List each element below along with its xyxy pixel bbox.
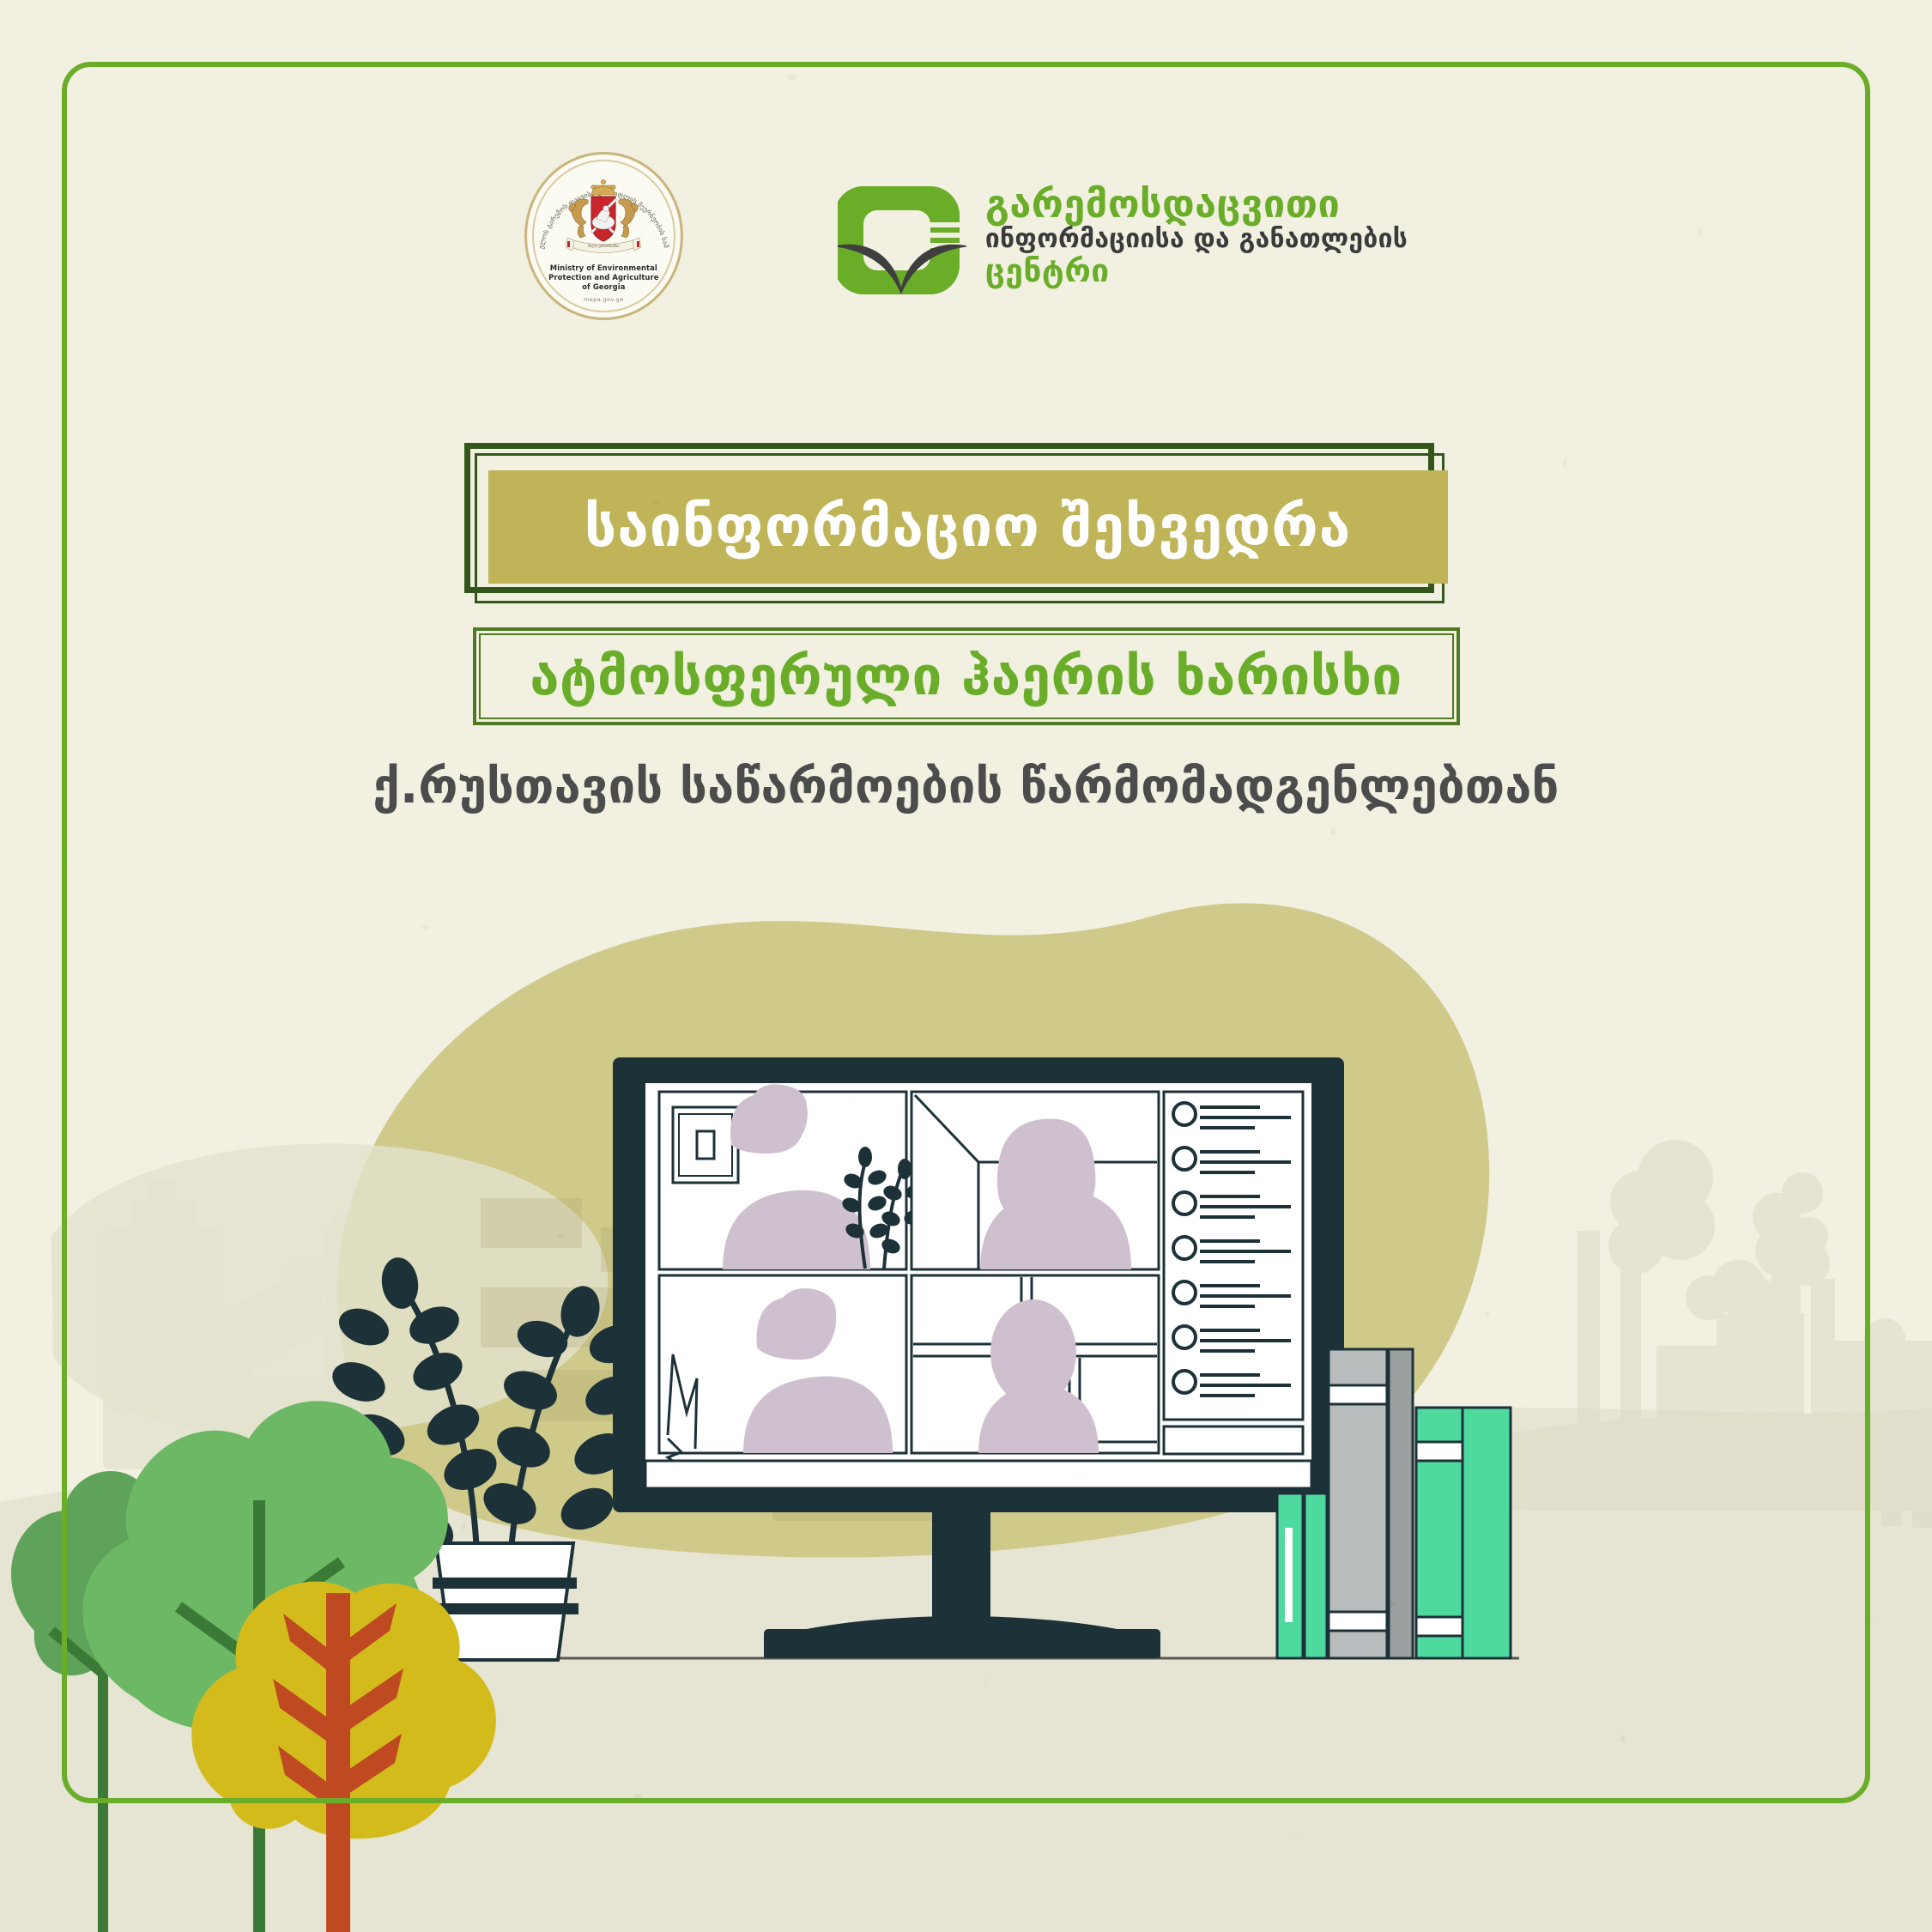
paper-texture-overlay xyxy=(0,0,1932,1932)
poster-canvas: საქართველოს გარემოს დაცვისა და სოფლის მე… xyxy=(0,0,1932,1932)
